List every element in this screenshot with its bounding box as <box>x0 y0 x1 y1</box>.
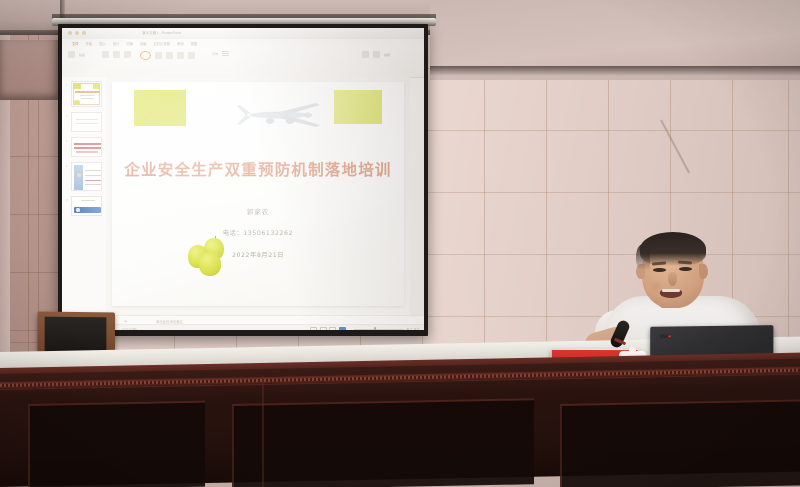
desk-recessed-panel-right <box>560 399 800 487</box>
paste-icon[interactable] <box>68 51 75 58</box>
speaker-ear-right <box>699 264 708 279</box>
desk-recessed-panel-left <box>28 401 205 487</box>
ribbon-toolbar[interactable]: 粘贴 字体 编辑 <box>62 47 424 78</box>
tab-insert[interactable]: 插入 <box>99 41 106 46</box>
normal-view-button[interactable] <box>310 327 317 330</box>
rectangle-shape-icon[interactable] <box>155 52 162 59</box>
ribbon-group-editing[interactable]: 编辑 <box>362 51 390 58</box>
oval-shape-icon[interactable] <box>140 51 151 60</box>
desk-section-seam <box>262 376 264 487</box>
speaker-eye-right <box>679 267 692 271</box>
thinkpad-logo-icon <box>660 334 671 338</box>
airplane-graphic <box>224 96 334 138</box>
language-indicator[interactable]: 中文(中国) <box>122 327 137 330</box>
tab-transitions[interactable]: 切换 <box>126 41 133 46</box>
zoom-slider[interactable] <box>354 329 404 330</box>
speaker-nose <box>668 272 677 286</box>
slide-thumbnail-2[interactable]: 2 <box>71 112 102 132</box>
desk-recessed-panel-center <box>232 398 534 487</box>
ribbon-group-drawing[interactable] <box>140 51 195 60</box>
tab-view[interactable]: 视图 <box>191 41 198 46</box>
reading-view-button[interactable] <box>329 327 336 330</box>
tab-animations[interactable]: 动画 <box>140 41 147 46</box>
slide-thumbnail-5[interactable]: 5 <box>71 196 102 216</box>
view-mode-buttons[interactable] <box>310 327 346 330</box>
podium-panel <box>45 317 107 354</box>
slide-thumbnail-pane[interactable]: 1 2 3 4 5 <box>62 77 107 315</box>
powerpoint-status-bar[interactable]: 第 1 张，共 5 张 中文(中国) 备注 批注 <box>62 324 424 330</box>
select-icon[interactable] <box>373 51 380 58</box>
yellow-accent-box-right <box>334 90 382 124</box>
tab-design[interactable]: 设计 <box>113 41 120 46</box>
slide-thumbnail-3[interactable]: 3 <box>71 137 102 157</box>
textbox-icon[interactable] <box>188 52 195 59</box>
speaker-sideburn <box>636 244 650 270</box>
wall-alcove <box>0 40 58 100</box>
projection-screen: 演示文稿1 - PowerPoint 文件 开始 插入 设计 切换 动画 幻灯片… <box>62 28 424 330</box>
slide-thumbnail-4[interactable]: 4 <box>71 162 102 191</box>
tab-file[interactable]: 文件 <box>72 41 79 46</box>
slide-number-2: 2 <box>66 115 67 118</box>
quick-access-toolbar[interactable] <box>68 31 86 35</box>
find-icon[interactable] <box>362 51 369 58</box>
ribbon-tab-bar[interactable]: 文件 开始 插入 设计 切换 动画 幻灯片放映 审阅 视图 <box>62 39 424 47</box>
slide-number-1: 1 <box>66 84 67 87</box>
slide-number-3: 3 <box>66 140 67 143</box>
speaker-teeth <box>662 289 680 292</box>
editing-label: 编辑 <box>384 52 390 57</box>
tab-review[interactable]: 审阅 <box>177 41 184 46</box>
notes-comments-toggle[interactable]: 备注 批注 <box>406 327 420 330</box>
slide-number-4: 4 <box>66 165 67 168</box>
slide-phone-text: 电话：13506132262 <box>112 228 404 237</box>
cup-lid-knob <box>629 347 636 352</box>
font-label: 字体 <box>212 51 218 56</box>
reset-icon[interactable] <box>124 51 131 58</box>
slideshow-view-button[interactable] <box>339 327 346 330</box>
slide-number-5: 5 <box>66 199 67 202</box>
slide-thumbnail-1[interactable]: 1 <box>71 81 102 107</box>
paste-label: 粘贴 <box>79 52 85 57</box>
line-shape-icon[interactable] <box>177 52 184 59</box>
conference-room-scene: 演示文稿1 - PowerPoint 文件 开始 插入 设计 切换 动画 幻灯片… <box>0 0 800 487</box>
ribbon-group-slides[interactable] <box>102 51 131 58</box>
tab-home[interactable]: 开始 <box>86 41 93 46</box>
tab-slideshow[interactable]: 幻灯片放映 <box>154 41 170 46</box>
yellow-accent-box-left <box>134 90 186 126</box>
paragraph-icon[interactable] <box>222 51 229 56</box>
pears-graphic <box>188 236 234 276</box>
current-slide[interactable]: 企业安全生产双重预防机制落地培训 郭家农 电话：13506132262 2022… <box>112 82 404 306</box>
arrow-shape-icon[interactable] <box>166 52 173 59</box>
slide-editing-area[interactable]: 企业安全生产双重预防机制落地培训 郭家农 电话：13506132262 2022… <box>106 77 410 315</box>
slide-presenter-name: 郭家农 <box>112 206 404 216</box>
speaker-eye-left <box>653 268 666 272</box>
slide-date-text: 2022年8月21日 <box>112 250 404 259</box>
window-title: 演示文稿1 - PowerPoint <box>142 30 181 35</box>
new-slide-icon[interactable] <box>102 51 109 58</box>
soffit-shadow <box>430 66 800 76</box>
layout-icon[interactable] <box>113 51 120 58</box>
ribbon-group-font[interactable]: 字体 <box>212 51 229 56</box>
ribbon-group-clipboard[interactable]: 粘贴 <box>68 51 85 58</box>
slide-title-text: 企业安全生产双重预防机制落地培训 <box>112 158 404 180</box>
slide-sorter-button[interactable] <box>320 327 327 330</box>
